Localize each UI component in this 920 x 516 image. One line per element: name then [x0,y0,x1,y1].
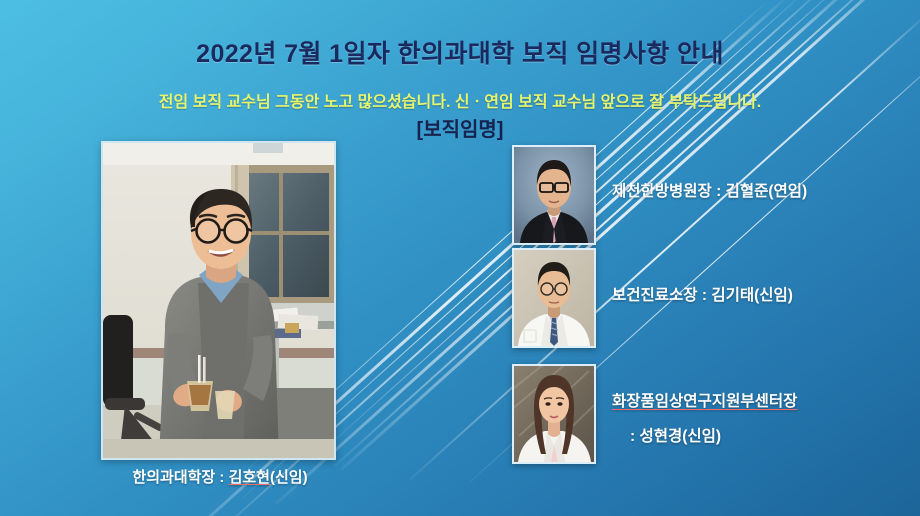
slide-subtitle: 전임 보직 교수님 그동안 노고 많으셨습니다. 신ㆍ연임 보직 교수님 앞으로… [0,88,920,112]
appointee-photo-2 [512,248,596,348]
slide-title: 2022년 7월 1일자 한의과대학 보직 임명사항 안내 [0,34,920,70]
appointee-photo-2-image [514,250,594,346]
appointee-role-3-line1: 화장품임상연구지원부센터장 [612,389,797,411]
appointee-role-3-title: 화장품임상연구지원부센터장 [612,393,797,410]
dean-caption-suffix: (신임) [270,469,308,486]
appointee-photo-1-image [514,147,594,243]
appointee-role-3-line2: : 성현경(신임) [630,424,721,446]
appointee-role-1: 제천한방병원장 : 김혈준(연임) [612,179,807,201]
dean-photo [101,141,336,460]
dean-photo-image [103,143,334,458]
presentation-slide: 2022년 7월 1일자 한의과대학 보직 임명사항 안내 전임 보직 교수님 … [0,0,920,516]
appointee-photo-1 [512,145,596,245]
dean-caption-name: 김호현 [229,469,270,486]
section-label: [보직임명] [0,113,920,142]
appointee-role-2: 보건진료소장 : 김기태(신임) [612,283,793,305]
dean-caption-role: 한의과대학장 : [132,469,228,486]
appointee-photo-3-image [514,366,594,462]
appointee-photo-3 [512,364,596,464]
dean-caption: 한의과대학장 : 김호현(신임) [60,466,380,487]
